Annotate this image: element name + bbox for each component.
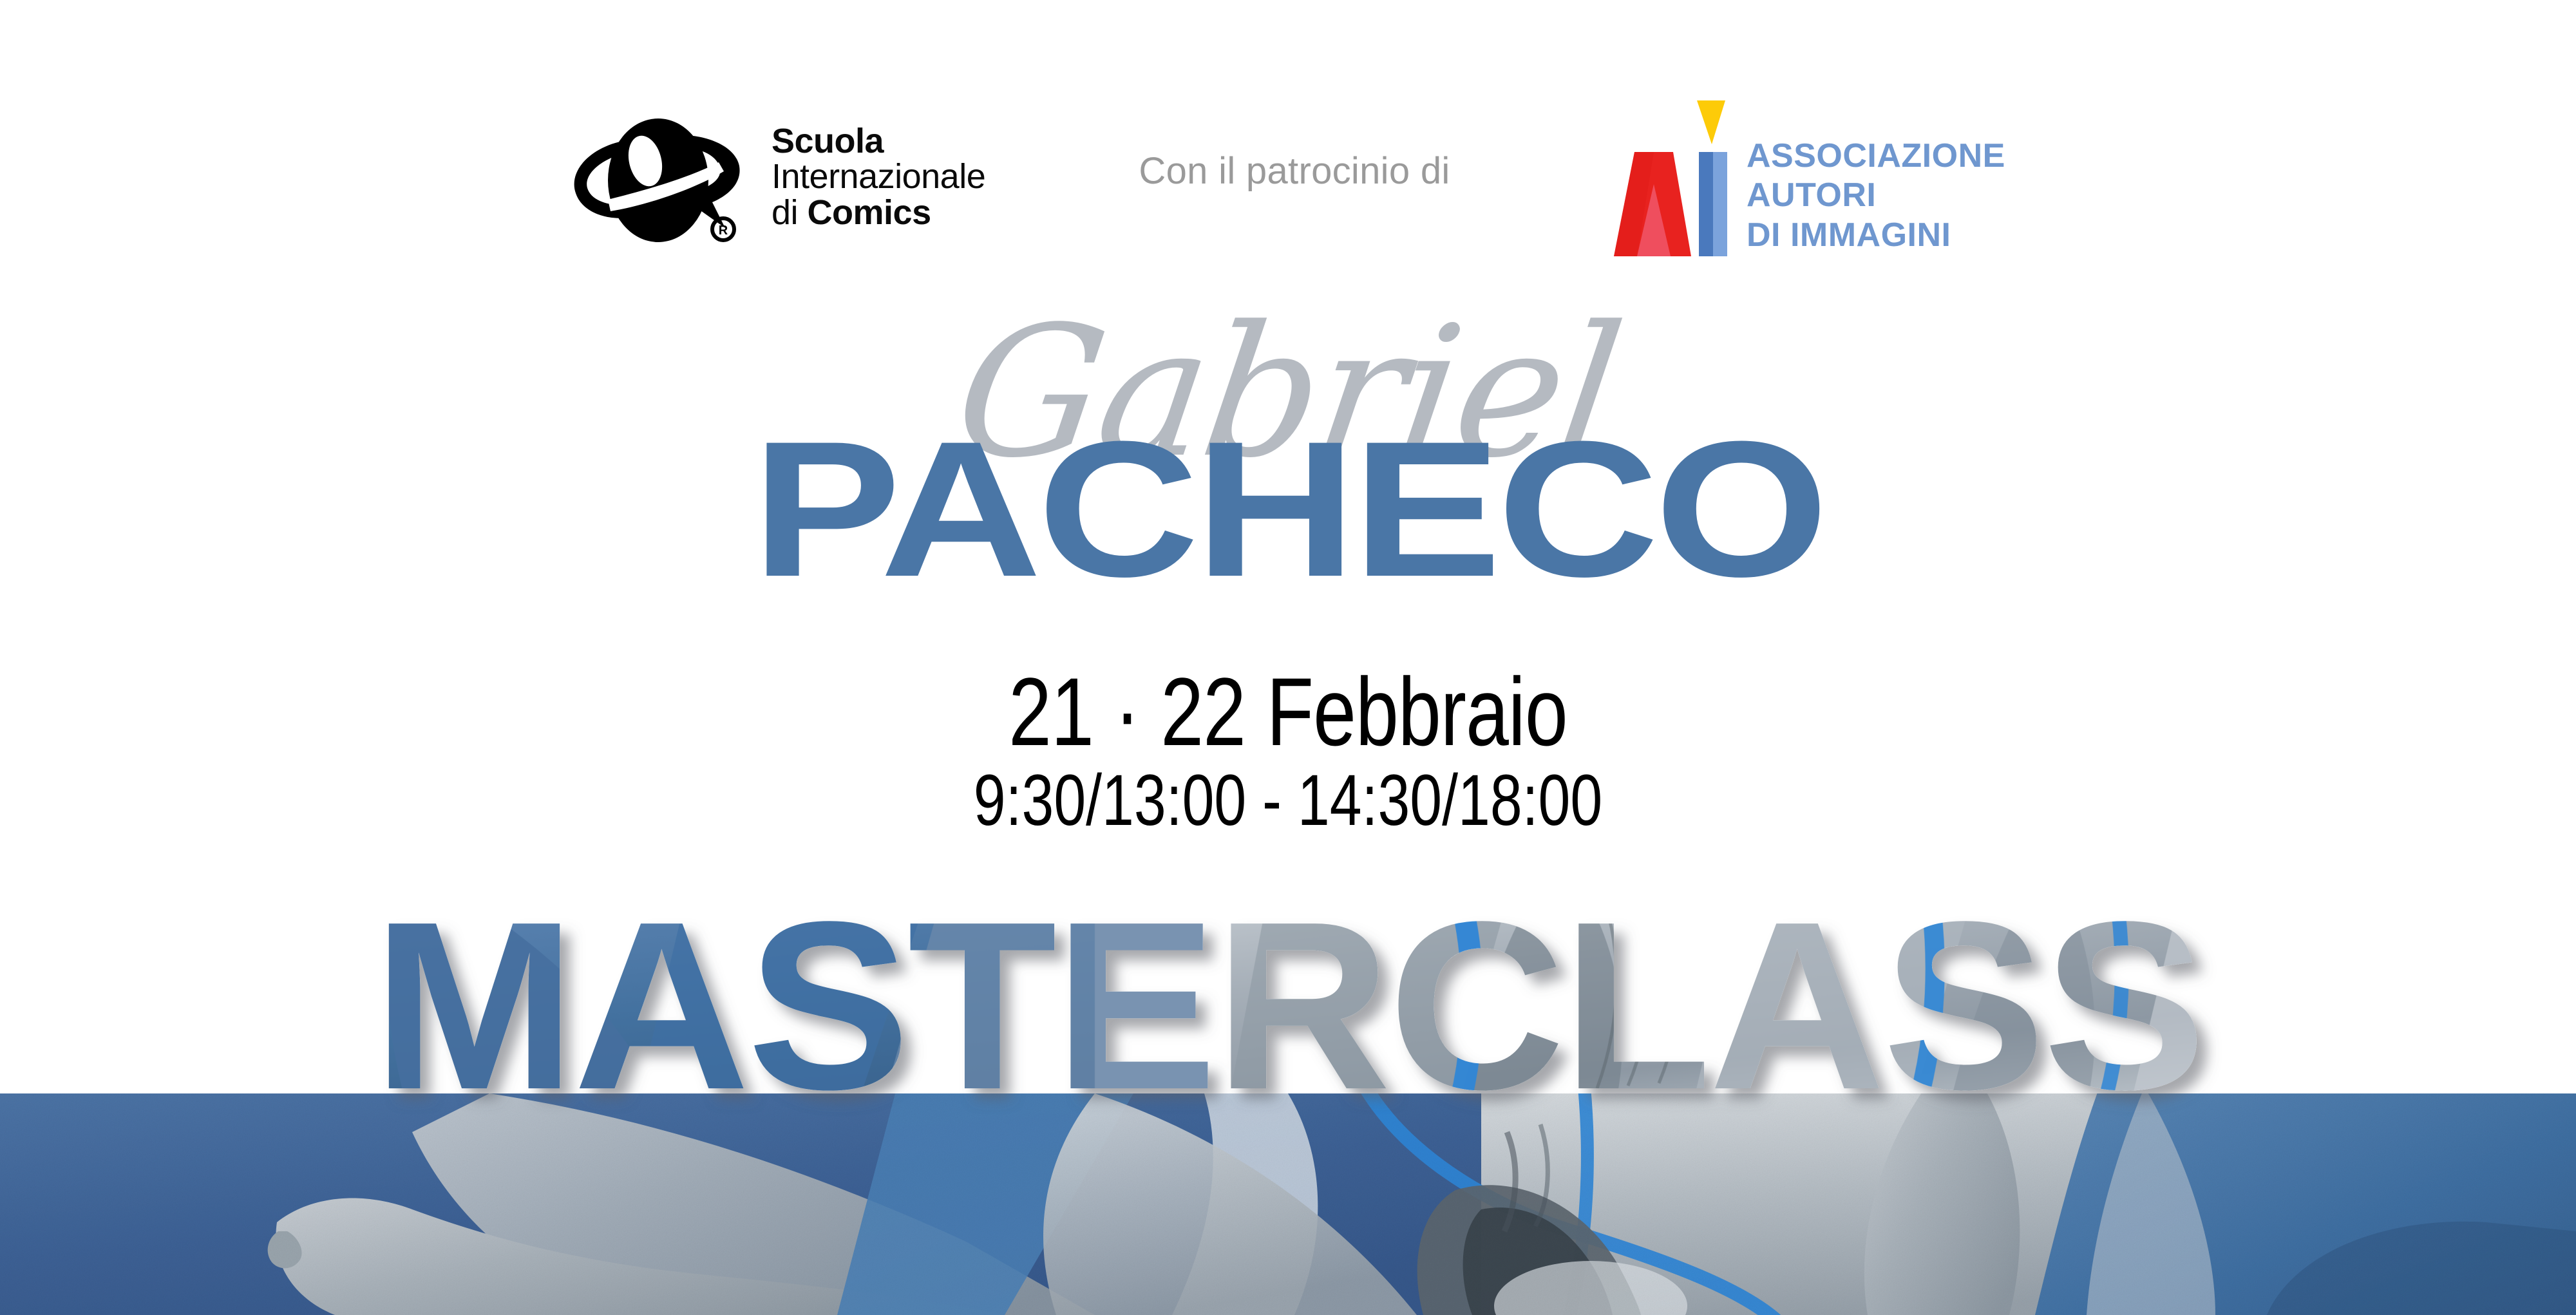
svg-text:MASTERCLASS: MASTERCLASS	[372, 871, 2203, 1127]
scuola-line-3-bold: Comics	[808, 193, 931, 232]
aai-logo: ASSOCIAZIONE AUTORI DI IMMAGINI	[1597, 90, 2087, 258]
aai-line-3: DI IMMAGINI	[1747, 216, 2005, 255]
scuola-comics-logo: R Scuola Internazionale di Comics	[567, 103, 1030, 251]
svg-text:R: R	[719, 223, 728, 238]
aai-monogram-icon	[1597, 95, 1739, 258]
scuola-line-3: di Comics	[772, 195, 985, 231]
scuola-comics-wordmark: Scuola Internazionale di Comics	[772, 124, 985, 230]
masterclass-banner: R Scuola Internazionale di Comics Con il…	[0, 0, 2576, 1315]
comics-planet-icon: R	[567, 109, 753, 245]
event-times: 9:30/13:00 - 14:30/18:00	[258, 762, 2318, 838]
event-dates: 21 · 22 Febbraio	[258, 663, 2318, 760]
aai-line-2: AUTORI	[1747, 176, 2005, 215]
aai-line-1: ASSOCIAZIONE	[1747, 137, 2005, 176]
scuola-line-1: Scuola	[772, 124, 985, 159]
scuola-line-3-prefix: di	[772, 193, 808, 232]
artist-name-block: Gabriel PACHECO	[0, 303, 2576, 644]
aai-wordmark: ASSOCIAZIONE AUTORI DI IMMAGINI	[1747, 137, 2005, 255]
masterclass-headline: MASTERCLASS MASTERCLASS	[0, 856, 2576, 1127]
artist-last-name: PACHECO	[0, 412, 2576, 605]
scuola-line-2: Internazionale	[772, 159, 985, 194]
artwork-illustration	[0, 1093, 2576, 1315]
header-logo-row: R Scuola Internazionale di Comics Con il…	[0, 90, 2576, 264]
patronage-label: Con il patrocinio di	[1095, 149, 1494, 193]
event-date-block: 21 · 22 Febbraio 9:30/13:00 - 14:30/18:0…	[0, 663, 2576, 838]
